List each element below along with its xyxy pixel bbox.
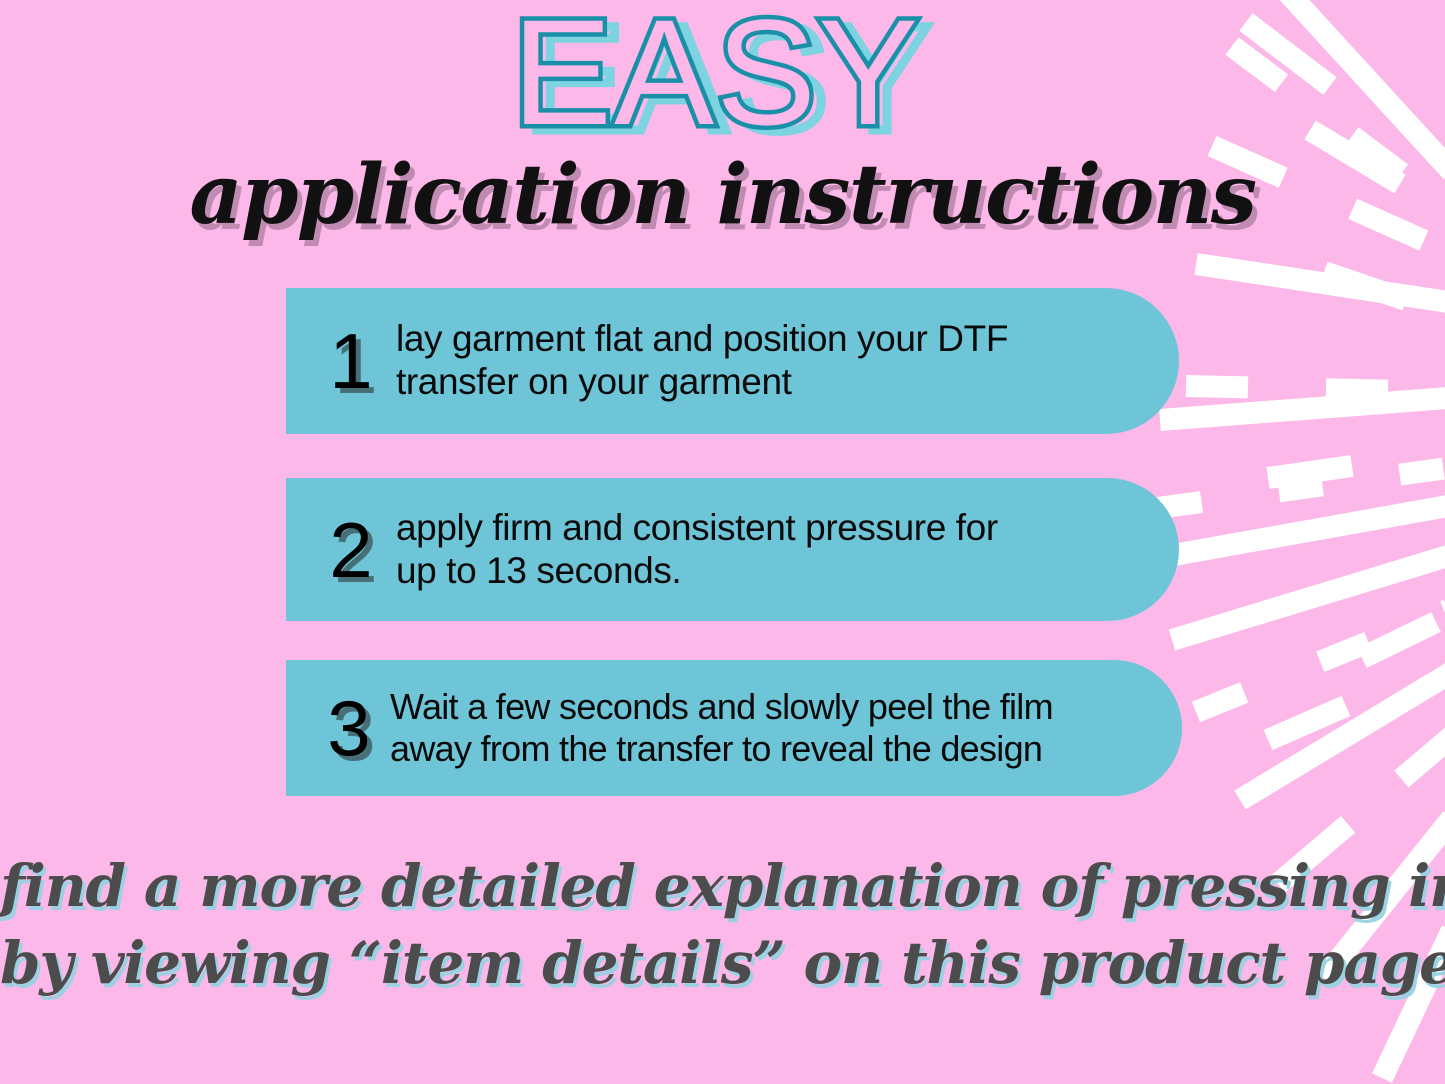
step-number-2: 2	[314, 511, 388, 589]
headline-easy-inner-cut: EASY	[512, 8, 920, 156]
headline-easy: EASY EASY EASY	[0, 8, 1445, 168]
footer-line-1: find a more detailed explanation of pres…	[0, 848, 1445, 925]
step-item-1: 1 lay garment flat and position your DTF…	[286, 288, 1179, 434]
step-text-3: Wait a few seconds and slowly peel the f…	[390, 686, 1154, 770]
step-item-2: 2 apply firm and consistent pressure for…	[286, 478, 1179, 621]
instruction-graphic-canvas: EASY EASY EASY application instructions …	[0, 0, 1445, 1084]
footer-note: find a more detailed explanation of pres…	[0, 848, 1445, 1002]
subtitle-application-instructions: application instructions	[0, 152, 1445, 238]
step-number-1: 1	[314, 322, 388, 400]
step-text-2: apply firm and consistent pressure for u…	[396, 507, 1139, 593]
footer-line-2: by viewing “item details” on this produc…	[0, 925, 1445, 1002]
step-text-3-line-2: away from the transfer to reveal the des…	[390, 728, 1154, 770]
step-text-1-line-1: lay garment flat and position your DTF	[396, 318, 1139, 361]
step-text-2-line-1: apply firm and consistent pressure for	[396, 507, 1139, 550]
step-text-3-line-1: Wait a few seconds and slowly peel the f…	[390, 686, 1154, 728]
step-text-1-line-2: transfer on your garment	[396, 361, 1139, 404]
step-text-1: lay garment flat and position your DTF t…	[396, 318, 1139, 404]
step-item-3: 3 Wait a few seconds and slowly peel the…	[286, 660, 1182, 796]
step-number-3: 3	[314, 689, 384, 767]
step-text-2-line-2: up to 13 seconds.	[396, 550, 1139, 593]
